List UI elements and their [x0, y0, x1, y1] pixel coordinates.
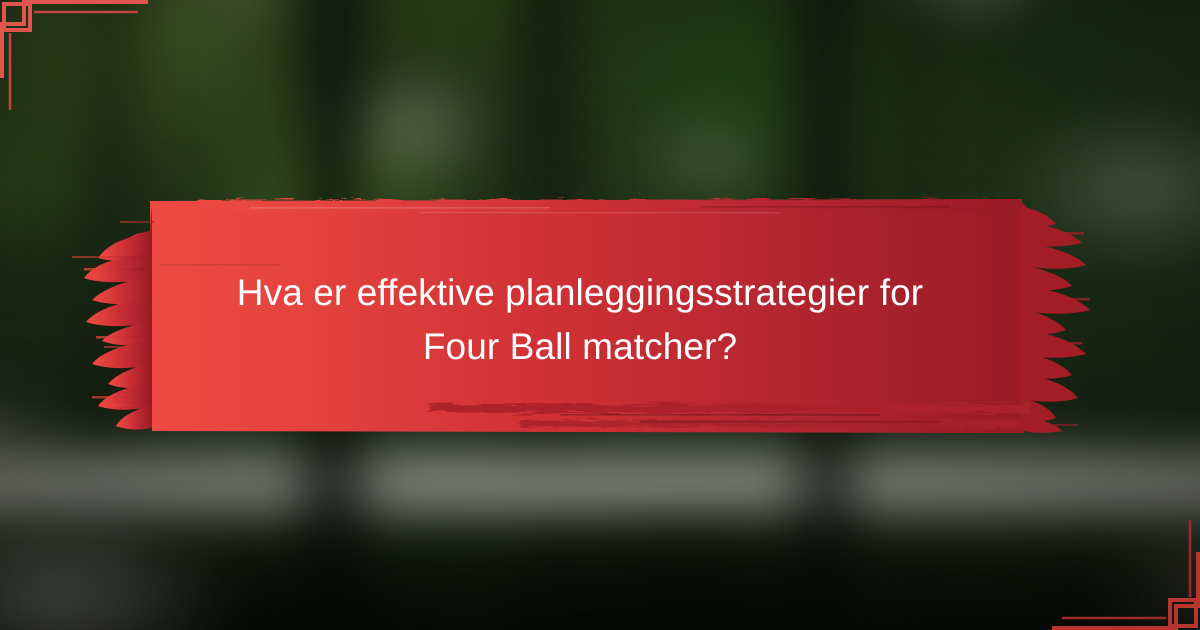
- headline-banner: Hva er effektive planleggingsstrategier …: [0, 0, 1200, 630]
- banner-right-tendrils: [1020, 201, 1090, 433]
- banner-left-tendrils: [72, 205, 154, 430]
- headline-line-2: Four Ball matcher?: [170, 320, 990, 374]
- headline: Hva er effektive planleggingsstrategier …: [170, 266, 990, 374]
- banner-bottom-dry-edge: [430, 404, 1030, 413]
- share-card: Hva er effektive planleggingsstrategier …: [0, 0, 1200, 630]
- headline-line-1: Hva er effektive planleggingsstrategier …: [170, 266, 990, 320]
